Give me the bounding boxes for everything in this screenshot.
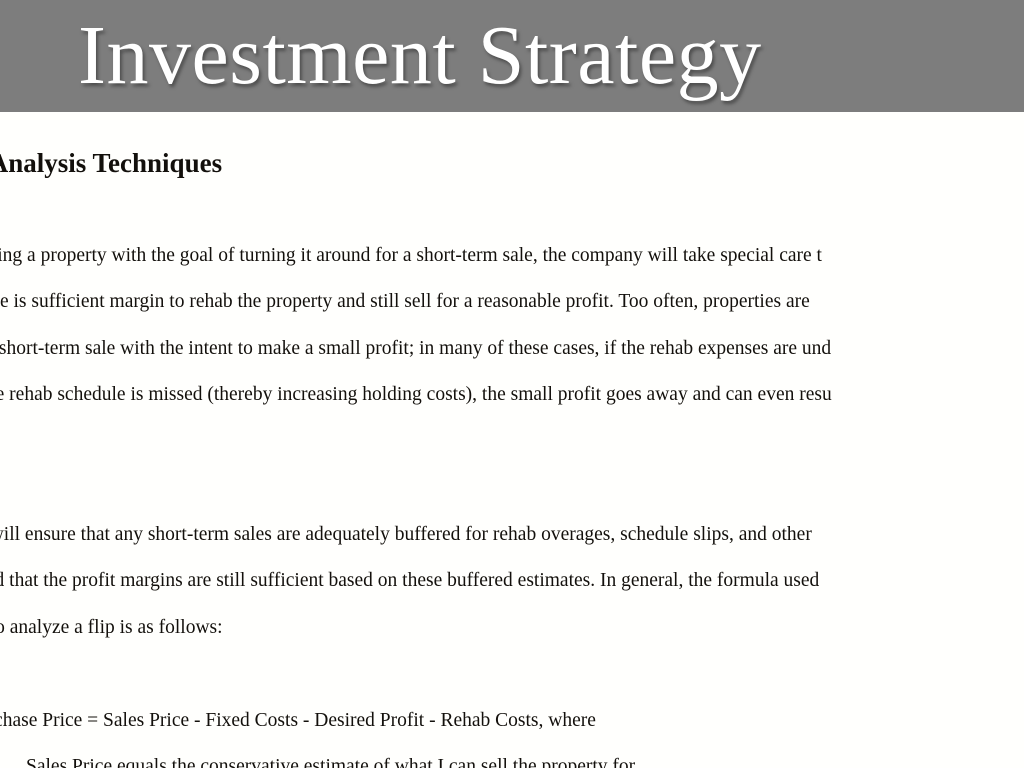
spacer: [0, 651, 1024, 698]
slide-container: Investment Strategy perty Analysis Techn…: [0, 0, 1024, 768]
paragraph-line: ompany will ensure that any short-term s…: [0, 512, 1024, 559]
definition-item: Sales Price equals the conservative esti…: [0, 744, 1024, 768]
paragraph-line: rises,” and that the profit margins are …: [0, 558, 1024, 605]
paragraph-line: ompany to analyze a flip is as follows:: [0, 605, 1024, 652]
paragraph-line: ated or the rehab schedule is missed (th…: [0, 372, 1024, 419]
paragraph-line: n purchasing a property with the goal of…: [0, 233, 1024, 280]
paragraph-line: e that there is sufficient margin to reh…: [0, 279, 1024, 326]
spacer: [0, 186, 1024, 233]
slide-title: Investment Strategy: [78, 6, 762, 106]
paragraph-line: hased for short-term sale with the inten…: [0, 326, 1024, 373]
document-page: perty Analysis Techniques n purchasing a…: [0, 112, 1024, 768]
spacer: [0, 465, 1024, 512]
document-viewport[interactable]: perty Analysis Techniques n purchasing a…: [0, 112, 1024, 768]
paragraph-2: ompany will ensure that any short-term s…: [0, 512, 1024, 652]
formula-line: mum Purchase Price = Sales Price - Fixed…: [0, 698, 1024, 745]
slide-title-banner: Investment Strategy: [0, 0, 1024, 112]
paragraph-1: n purchasing a property with the goal of…: [0, 233, 1024, 466]
paragraph-line: .: [0, 419, 1024, 466]
document-heading: perty Analysis Techniques: [0, 112, 1024, 186]
